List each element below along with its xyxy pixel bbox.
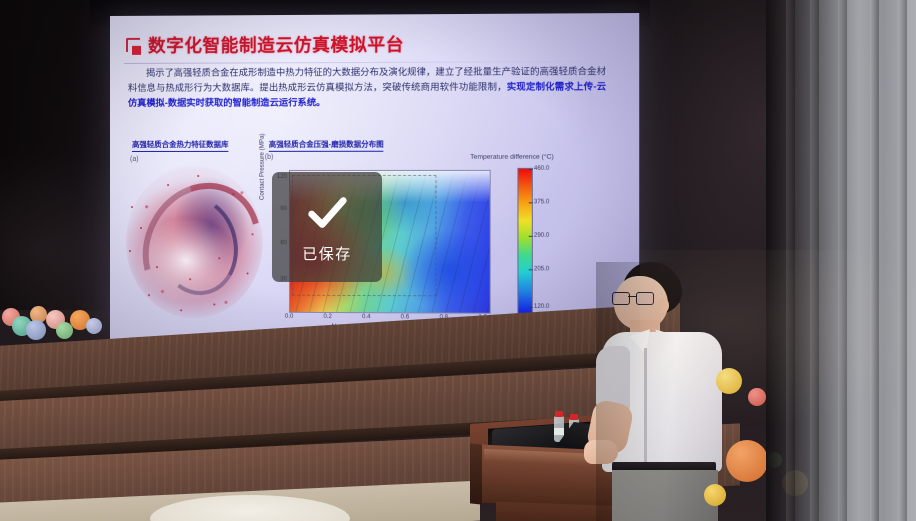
- balloon-cluster-left: [0, 300, 120, 340]
- presenter-trousers: [612, 470, 718, 521]
- toast-label: 已保存: [302, 243, 352, 264]
- presenter-hand: [584, 440, 618, 464]
- colorbar-tick-4: 120.0: [534, 304, 549, 310]
- slide-title: 数字化智能制造云仿真模拟平台: [148, 32, 404, 58]
- figure-a-panel-tag: (a): [130, 156, 139, 163]
- figure-caption-a: 高强轻质合金热力特征数据库: [132, 139, 228, 152]
- colorbar-tick-3: 205.0: [534, 266, 549, 272]
- presenter-ear: [658, 298, 669, 313]
- glasses-icon: [612, 292, 656, 303]
- computer-use-screenshot: 数字化智能制造云仿真模拟平台 揭示了高强轻质合金在成形制造中热力特征的大数据分布…: [0, 0, 916, 521]
- colorbar-tick-0: 460.0: [534, 166, 549, 172]
- checkmark-icon: [304, 190, 350, 236]
- colorbar: [517, 168, 532, 314]
- y-axis-label: Contact Pressure (MPa): [259, 133, 266, 200]
- bracket-square-logo-icon: [126, 38, 143, 57]
- podium-side-panel: [470, 443, 482, 504]
- figure-a-scatter: (a): [118, 152, 269, 328]
- saved-toast-overlay: 已保存: [272, 172, 382, 282]
- colorbar-tick-1: 375.0: [534, 199, 549, 205]
- x-tick-2: 0.4: [362, 314, 370, 320]
- x-tick-0: 0.0: [285, 314, 293, 320]
- presenter-shirt-placket: [644, 348, 647, 468]
- scatter-point-cloud: [126, 166, 263, 319]
- colorbar-title: Temperature difference (°C): [470, 154, 554, 161]
- slide-body-text: 揭示了高强轻质合金在成形制造中热力特征的大数据分布及演化规律，建立了经批量生产验…: [128, 64, 606, 111]
- colorbar-tick-2: 290.0: [534, 233, 549, 239]
- figure-caption-b: 高强轻质合金压强-磨损数据分布图: [269, 139, 384, 152]
- gray-curtain: [766, 0, 916, 521]
- x-tick-1: 0.2: [323, 314, 331, 320]
- figure-b-panel-tag: (b): [265, 154, 274, 161]
